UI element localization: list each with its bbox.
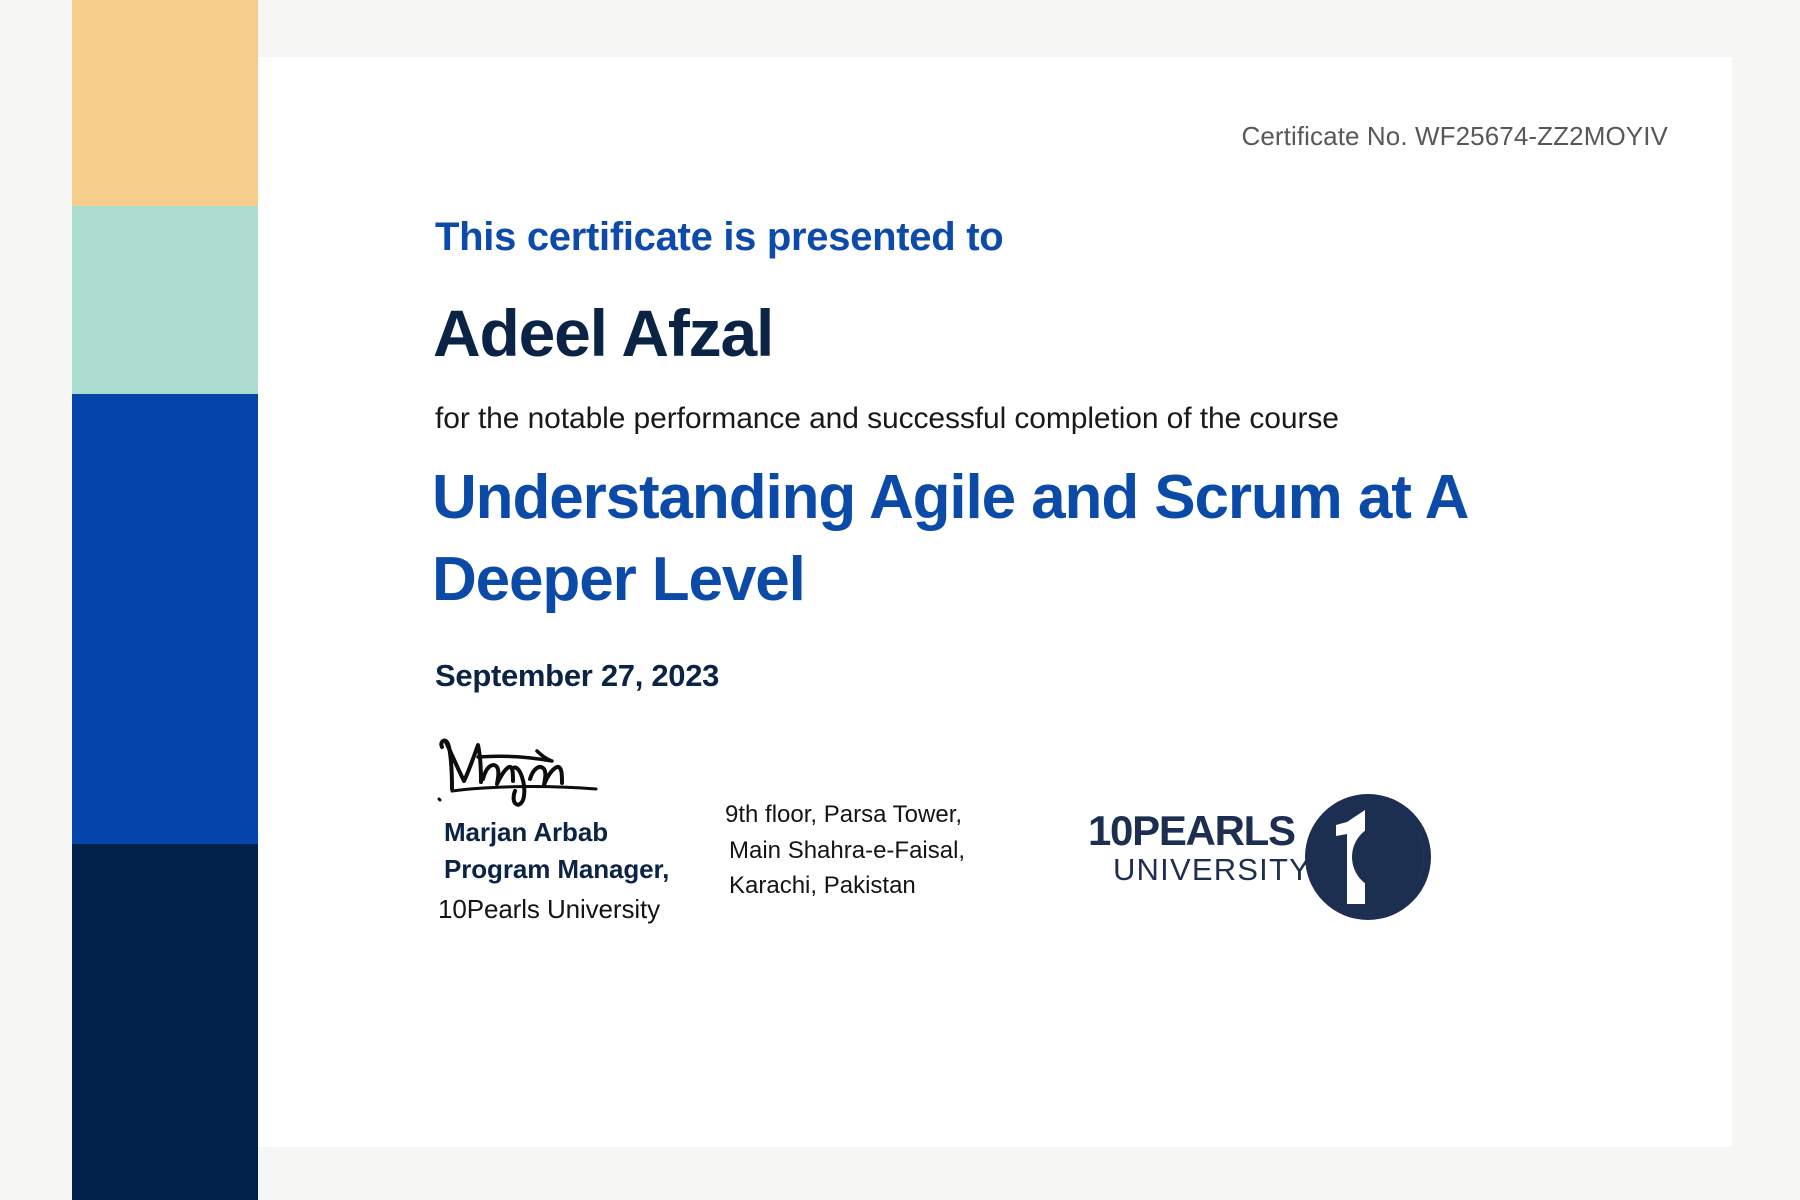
address-block: 9th floor, Parsa Tower, Main Shahra-e-Fa…: [725, 797, 965, 904]
address-line-1: 9th floor, Parsa Tower,: [725, 797, 965, 833]
color-block-mint: [72, 206, 258, 394]
color-block-tan: [72, 0, 258, 206]
logo-brand-text: 10PEARLS: [1088, 810, 1312, 852]
organization-logo: 10PEARLS UNIVERSITY: [1088, 792, 1418, 922]
certificate-page: Certificate No. WF25674-ZZ2MOYIV This ce…: [0, 0, 1800, 1200]
logo-wordmark: 10PEARLS UNIVERSITY: [1088, 810, 1312, 888]
signer-name: Marjan Arbab: [444, 817, 608, 848]
signer-title: Program Manager,: [444, 854, 669, 885]
address-line-3: Karachi, Pakistan: [725, 868, 965, 904]
course-title: Understanding Agile and Scrum at A Deepe…: [432, 457, 1552, 621]
decorative-color-bar: [72, 0, 258, 1200]
logo-subtitle-text: UNIVERSITY: [1088, 852, 1312, 888]
address-line-2: Main Shahra-e-Faisal,: [725, 833, 965, 869]
recipient-name: Adeel Afzal: [433, 297, 773, 370]
certificate-number: Certificate No. WF25674-ZZ2MOYIV: [1241, 121, 1668, 152]
color-block-blue: [72, 394, 258, 844]
10pearls-circle-mark-icon: [1303, 792, 1433, 922]
handwritten-signature-icon: [434, 729, 634, 809]
presented-to-heading: This certificate is presented to: [435, 215, 1003, 260]
color-block-navy: [72, 844, 258, 1200]
course-intro-text: for the notable performance and successf…: [435, 402, 1339, 436]
signer-organization: 10Pearls University: [438, 894, 660, 925]
issue-date: September 27, 2023: [435, 658, 719, 694]
certificate-content: Certificate No. WF25674-ZZ2MOYIV This ce…: [258, 57, 1732, 1147]
